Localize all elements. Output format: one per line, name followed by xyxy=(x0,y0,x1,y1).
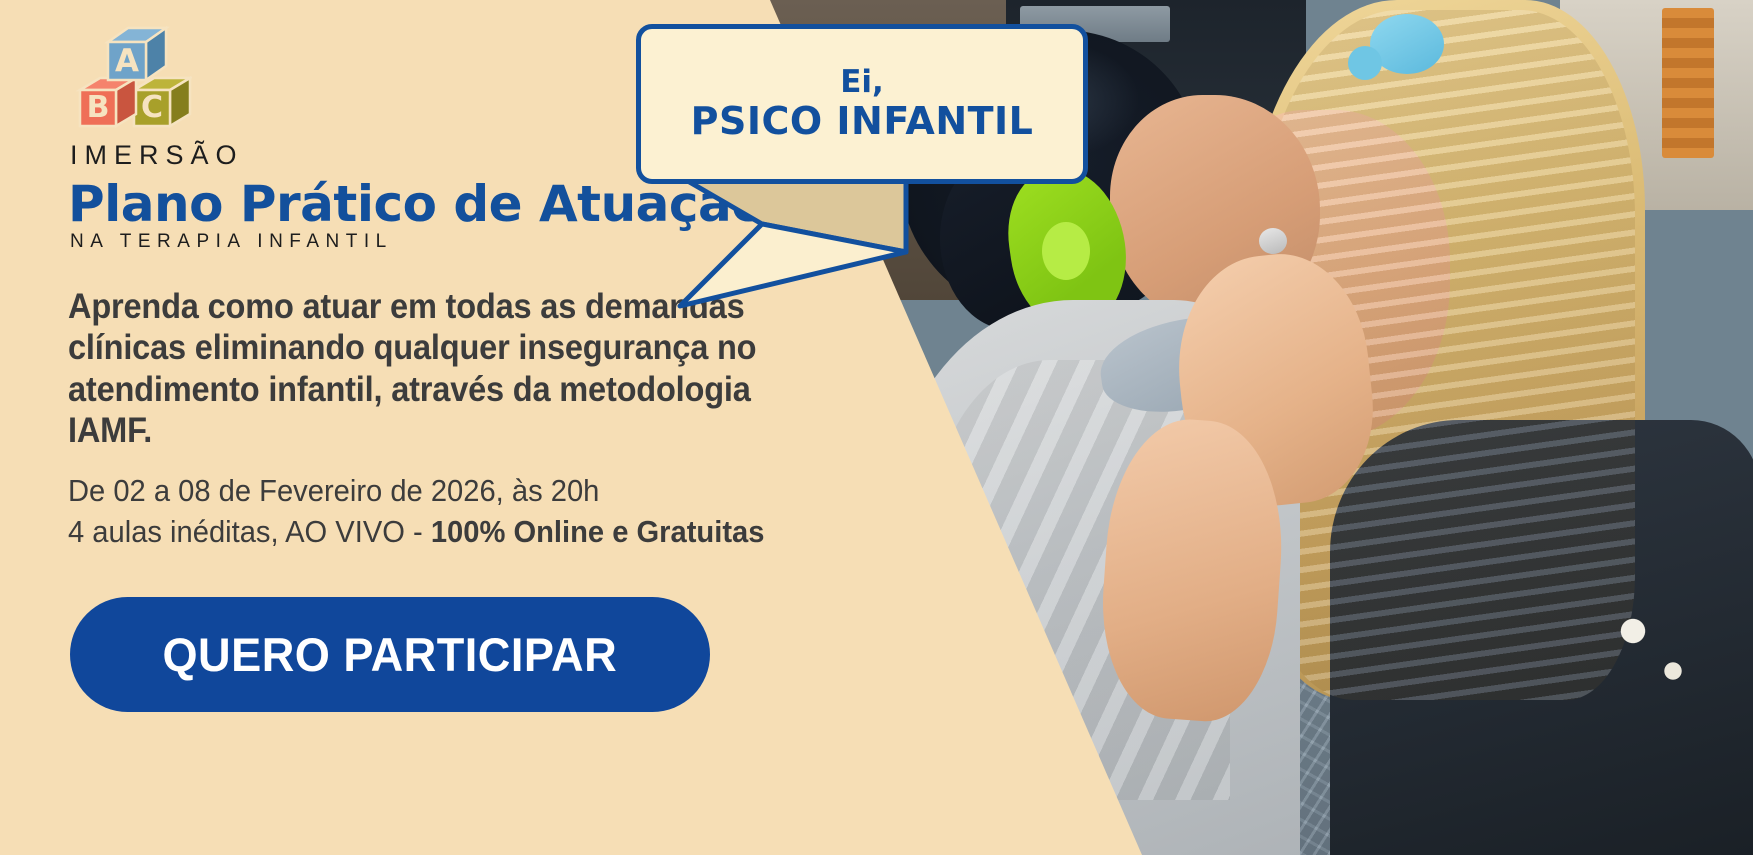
speech-bubble: Ei, PSICO INFANTIL xyxy=(636,24,1088,184)
block-b-icon: B xyxy=(80,78,136,126)
bubble-line-1: Ei, xyxy=(840,65,884,100)
photo-earring xyxy=(1259,228,1287,254)
schedule-line-classes: 4 aulas inéditas, AO VIVO - 100% Online … xyxy=(68,511,914,552)
speech-bubble-box: Ei, PSICO INFANTIL xyxy=(636,24,1088,184)
lead-paragraph: Aprenda como atuar em todas as demandas … xyxy=(68,286,775,451)
photo-shirt-flower-1 xyxy=(1612,610,1654,652)
cta-label: QUERO PARTICIPAR xyxy=(163,627,618,682)
svg-text:B: B xyxy=(87,90,110,125)
block-c-icon: C xyxy=(134,78,190,126)
eyebrow-imersao: IMERSÃO xyxy=(70,140,244,171)
schedule-line-dates: De 02 a 08 de Fevereiro de 2026, às 20h xyxy=(68,470,914,511)
bubble-line-2: PSICO INFANTIL xyxy=(691,100,1034,144)
photo-boy-ear-defender-knob xyxy=(1042,222,1090,280)
svg-text:A: A xyxy=(115,43,139,79)
abc-blocks-logo: C B A xyxy=(72,22,192,132)
schedule-highlight: 100% Online e Gratuitas xyxy=(431,514,765,549)
subtitle-na-terapia-infantil: NA TERAPIA INFANTIL xyxy=(70,231,393,253)
quero-participar-button[interactable]: QUERO PARTICIPAR xyxy=(70,597,710,712)
promo-banner: C B A IMERSÃO Plano Prático de Atuação N… xyxy=(0,0,1753,855)
schedule-prefix: 4 aulas inéditas, AO VIVO - xyxy=(68,514,431,549)
photo-shirt-flower-2 xyxy=(1658,656,1688,686)
photo-orange-panel xyxy=(1662,8,1714,158)
block-a-icon: A xyxy=(108,28,166,80)
schedule-block: De 02 a 08 de Fevereiro de 2026, às 20h … xyxy=(68,470,914,552)
abc-blocks-icon: C B A xyxy=(72,22,192,132)
photo-girl-hair-clip-2 xyxy=(1348,46,1382,80)
svg-text:C: C xyxy=(141,90,163,125)
